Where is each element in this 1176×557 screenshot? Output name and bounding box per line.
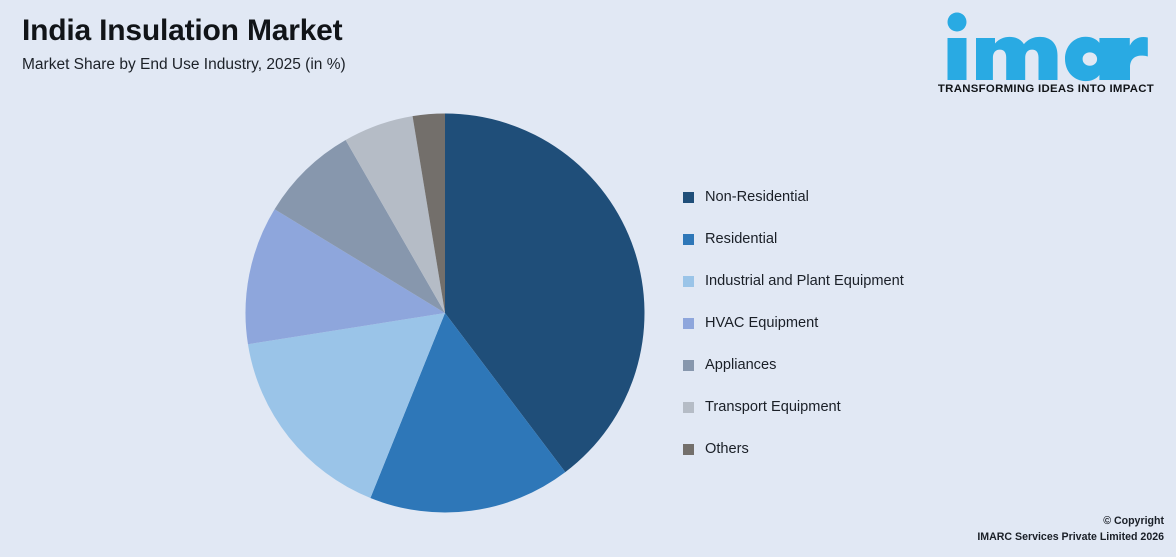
imarc-wordmark-icon [930,12,1162,82]
pie-chart-svg [245,113,645,513]
pie-chart [245,113,645,513]
copyright-text: © Copyright [977,514,1164,529]
legend-item[interactable]: Industrial and Plant Equipment [683,260,1123,302]
legend-label: HVAC Equipment [705,316,818,331]
page-title: India Insulation Market [22,14,722,49]
legend-label: Others [705,442,749,457]
pie-slice-group [246,114,645,513]
legend-item[interactable]: Non-Residential [683,176,1123,218]
legend-item[interactable]: Residential [683,218,1123,260]
legend-item[interactable]: Transport Equipment [683,386,1123,428]
legend-item[interactable]: HVAC Equipment [683,302,1123,344]
legend-swatch-icon [683,192,694,203]
chart-header: India Insulation Market Market Share by … [22,14,722,74]
legend-swatch-icon [683,234,694,245]
company-text: IMARC Services Private Limited 2026 [977,530,1164,545]
footer: © Copyright IMARC Services Private Limit… [977,514,1164,545]
logo-tagline: TRANSFORMING IDEAS INTO IMPACT [926,83,1166,95]
legend-label: Non-Residential [705,190,809,205]
chart-legend: Non-ResidentialResidentialIndustrial and… [683,176,1123,470]
legend-swatch-icon [683,276,694,287]
legend-label: Industrial and Plant Equipment [705,274,904,289]
legend-swatch-icon [683,444,694,455]
legend-item[interactable]: Appliances [683,344,1123,386]
imarc-logo: TRANSFORMING IDEAS INTO IMPACT [926,12,1166,95]
legend-label: Appliances [705,358,776,373]
legend-swatch-icon [683,402,694,413]
legend-swatch-icon [683,360,694,371]
legend-item[interactable]: Others [683,428,1123,470]
chart-page: India Insulation Market Market Share by … [0,0,1176,557]
legend-label: Transport Equipment [705,400,841,415]
legend-swatch-icon [683,318,694,329]
legend-label: Residential [705,232,777,247]
chart-subtitle: Market Share by End Use Industry, 2025 (… [22,56,722,75]
